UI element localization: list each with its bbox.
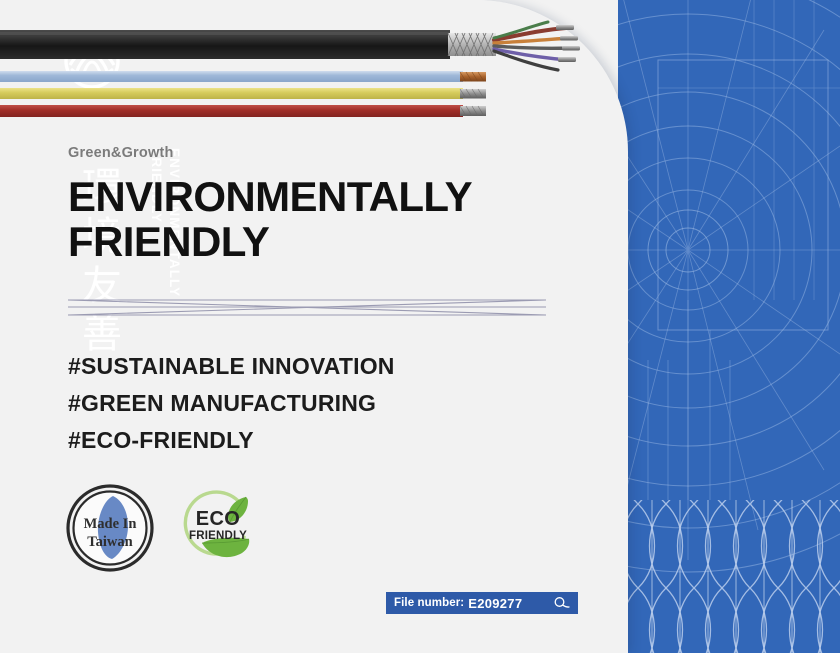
- badge-line-2: Taiwan: [87, 534, 132, 550]
- decorative-divider: [68, 287, 546, 327]
- poster-canvas: 環境友善 ENVIRONMENTALLY FRIENDLY: [0, 0, 840, 653]
- eco-line-1: ECO: [196, 508, 241, 530]
- eyebrow-label: Green&Growth: [68, 145, 568, 161]
- hashtag-item: #SUSTAINABLE INNOVATION: [68, 348, 568, 385]
- hashtag-item: #GREEN MANUFACTURING: [68, 385, 568, 422]
- hashtag-item: #ECO-FRIENDLY: [68, 422, 568, 459]
- file-number-label: File number:: [394, 597, 464, 609]
- certification-badges: Made In Taiwan ECO FRIENDLY: [66, 484, 260, 572]
- page-title: ENVIRONMENTALLY FRIENDLY: [68, 174, 568, 265]
- side-panel: [618, 0, 840, 653]
- magnifier-icon[interactable]: [553, 596, 570, 610]
- file-number-value: E209277: [468, 596, 522, 611]
- yellow-cable: [0, 88, 486, 99]
- poster-text-block: Green&Growth ENVIRONMENTALLY FRIENDLY #S…: [68, 145, 568, 459]
- file-number-bar[interactable]: File number: E209277: [386, 592, 578, 614]
- light-blue-cable: [0, 71, 486, 82]
- headline-line-1: ENVIRONMENTALLY: [68, 174, 568, 219]
- hashtag-list: #SUSTAINABLE INNOVATION #GREEN MANUFACTU…: [68, 348, 568, 460]
- made-in-taiwan-badge: Made In Taiwan: [66, 484, 154, 572]
- cable-photo-group: [0, 0, 600, 130]
- eco-line-2: FRIENDLY: [189, 530, 247, 542]
- blueprint-pattern: [618, 0, 840, 653]
- headline-line-2: FRIENDLY: [68, 219, 568, 264]
- black-shielded-cable: [0, 22, 580, 70]
- eco-friendly-badge: ECO FRIENDLY: [178, 487, 260, 569]
- badge-line-1: Made In: [84, 516, 137, 532]
- red-cable: [0, 105, 486, 117]
